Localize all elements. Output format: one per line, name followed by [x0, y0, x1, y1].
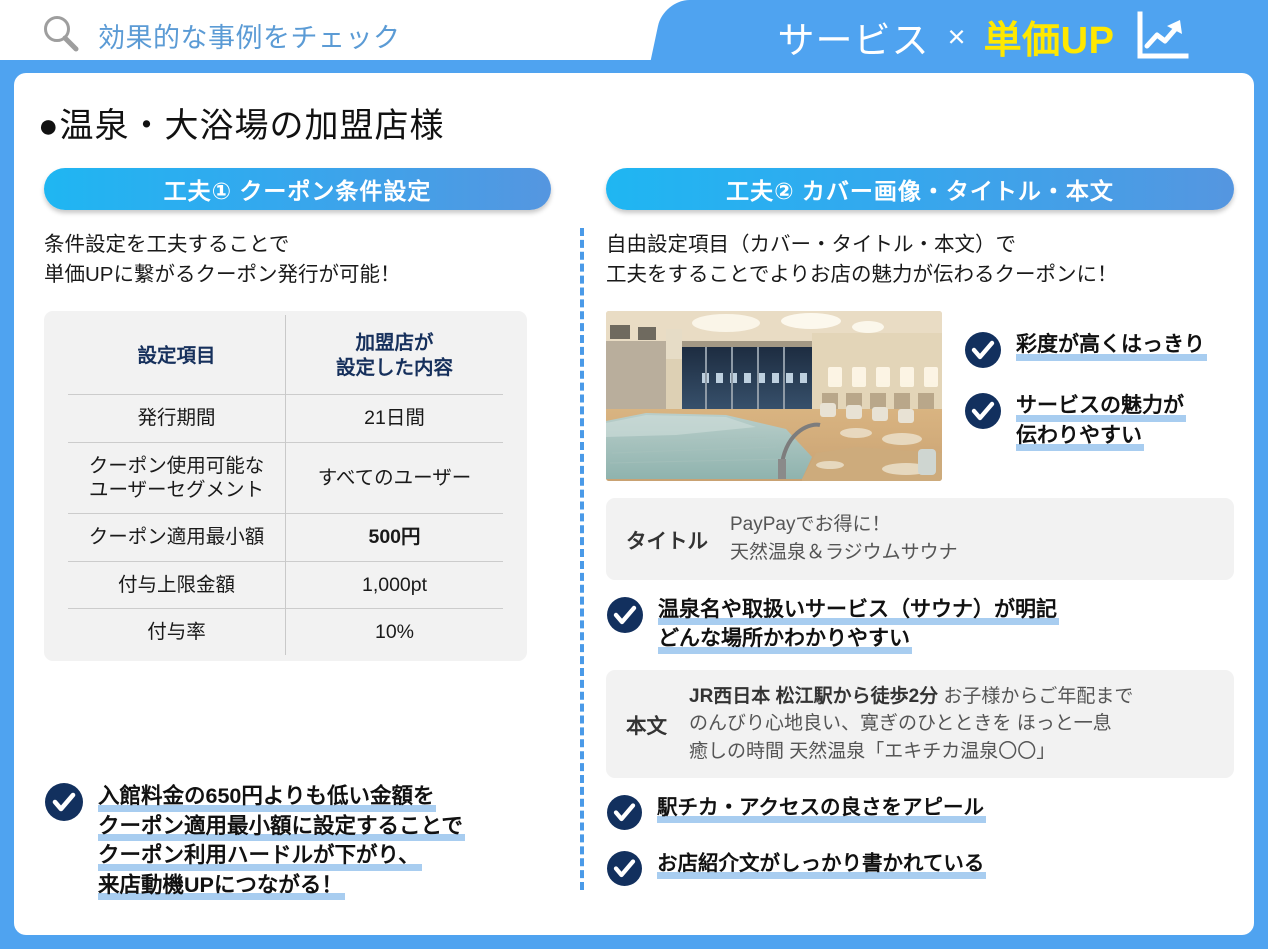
- left-takeaway-bullet: 入館料金の650円よりも低い金額を クーポン適用最小額に設定することで クーポン…: [44, 782, 564, 900]
- check-circle-icon: [964, 392, 1002, 435]
- table-row: クーポン適用最小額 500円: [68, 514, 503, 561]
- table-row: 付与率 10%: [68, 609, 503, 656]
- table-cell-item: 付与率: [68, 609, 286, 656]
- table-cell-value: 500円: [286, 514, 504, 561]
- title-field-card: タイトル PayPayでお得に！ 天然温泉＆ラジウムサウナ: [606, 498, 1234, 579]
- title-field-label: タイトル: [626, 524, 708, 554]
- title-field-value: PayPayでお得に！ 天然温泉＆ラジウムサウナ: [730, 511, 958, 566]
- bottom-bullet-2: お店紹介文がしっかり書かれている: [606, 850, 1234, 892]
- body-field-value: JR西日本 松江駅から徒歩2分 お子様からご年配まで のんびり心地良い、寛ぎのひ…: [689, 683, 1133, 766]
- search-heading-label: 効果的な事例をチェック: [98, 16, 401, 55]
- table-header-item: 設定項目: [68, 315, 286, 394]
- line-chart-up-icon: [1132, 10, 1190, 64]
- photo-bullet-1: 彩度が高くはっきり: [964, 331, 1207, 374]
- banner-text-unitprice-up: 単価UP: [984, 9, 1115, 64]
- right-lead-text: 自由設定項目（カバー・タイトル・本文）で 工夫をすることでよりお店の魅力が伝わる…: [606, 230, 1234, 289]
- cover-photo: [606, 311, 942, 481]
- table-cell-item: クーポン適用最小額: [68, 514, 286, 561]
- bullet-line: 駅チカ・アクセスの良さをアピール: [657, 794, 986, 823]
- bullet-line: 来店動機UPにつながる！: [98, 871, 345, 901]
- page-title: ●温泉・大浴場の加盟店様: [38, 98, 445, 147]
- photo-bullet-list: 彩度が高くはっきり サービスの魅力が 伝わりやすい: [964, 311, 1207, 450]
- banner-multiply-symbol: ×: [948, 19, 966, 55]
- section-header-1: 工夫① クーポン条件設定: [44, 168, 551, 210]
- bottom-bullet-1: 駅チカ・アクセスの良さをアピール: [606, 794, 1234, 836]
- check-circle-icon: [606, 794, 643, 836]
- left-takeaway-lines: 入館料金の650円よりも低い金額を クーポン適用最小額に設定することで クーポン…: [98, 782, 465, 900]
- body-field-value-bold: JR西日本 松江駅から徒歩2分: [689, 686, 938, 707]
- check-circle-icon: [606, 850, 643, 892]
- right-column: 工夫② カバー画像・タイトル・本文 自由設定項目（カバー・タイトル・本文）で 工…: [606, 168, 1234, 892]
- photo-bullet-2-lines: サービスの魅力が 伝わりやすい: [1016, 392, 1186, 450]
- bullet-line: お店紹介文がしっかり書かれている: [657, 850, 986, 879]
- photo-bullet-2: サービスの魅力が 伝わりやすい: [964, 392, 1207, 450]
- bullet-line: 温泉名や取扱いサービス（サウナ）が明記: [658, 596, 1059, 625]
- section-header-2: 工夫② カバー画像・タイトル・本文: [606, 168, 1234, 210]
- table-row: 付与上限金額 1,000pt: [68, 561, 503, 608]
- title-bullet-lines: 温泉名や取扱いサービス（サウナ）が明記 どんな場所かわかりやすい: [658, 596, 1059, 654]
- bullet-line: クーポン利用ハードルが下がり、: [98, 841, 422, 871]
- column-divider: [580, 228, 584, 890]
- table-cell-value: 10%: [286, 609, 504, 656]
- bullet-line: サービスの魅力が: [1016, 392, 1186, 421]
- table-row: クーポン使用可能な ユーザーセグメント すべてのユーザー: [68, 442, 503, 514]
- table-cell-item: クーポン使用可能な ユーザーセグメント: [68, 442, 286, 514]
- photo-bullet-1-lines: 彩度が高くはっきり: [1016, 331, 1207, 360]
- table-row: 発行期間 21日間: [68, 395, 503, 442]
- left-column: 工夫① クーポン条件設定 条件設定を工夫することで 単価UPに繋がるクーポン発行…: [44, 168, 554, 661]
- bullet-line: クーポン適用最小額に設定することで: [98, 812, 465, 842]
- table-header-row: 設定項目 加盟店が 設定した内容: [68, 315, 503, 394]
- title-bullet: 温泉名や取扱いサービス（サウナ）が明記 どんな場所かわかりやすい: [606, 596, 1234, 654]
- banner-text-service: サービス: [778, 10, 930, 64]
- table-cell-item: 付与上限金額: [68, 561, 286, 608]
- coupon-settings-table: 設定項目 加盟店が 設定した内容 発行期間 21日間 クーポン使用可能な ユーザ…: [68, 315, 503, 655]
- table-cell-value: 21日間: [286, 395, 504, 442]
- bullet-line: 入館料金の650円よりも低い金額を: [98, 782, 436, 812]
- body-field-card: 本文 JR西日本 松江駅から徒歩2分 お子様からご年配まで のんびり心地良い、寛…: [606, 670, 1234, 779]
- bottom-bullet-1-lines: 駅チカ・アクセスの良さをアピール: [657, 794, 986, 823]
- bullet-line: 伝わりやすい: [1016, 422, 1144, 451]
- check-circle-icon: [964, 331, 1002, 374]
- check-circle-icon: [606, 596, 644, 639]
- bullet-line: 彩度が高くはっきり: [1016, 331, 1207, 360]
- left-lead-text: 条件設定を工夫することで 単価UPに繋がるクーポン発行が可能！: [44, 230, 554, 289]
- table-cell-value: すべてのユーザー: [286, 442, 504, 514]
- search-heading: 効果的な事例をチェック: [38, 12, 401, 58]
- search-magnifier-icon: [38, 12, 84, 58]
- cover-photo-row: 彩度が高くはっきり サービスの魅力が 伝わりやすい: [606, 311, 1234, 481]
- table-cell-value: 1,000pt: [286, 561, 504, 608]
- table-cell-item: 発行期間: [68, 395, 286, 442]
- slide-root: 効果的な事例をチェック サービス × 単価UP ●温泉・大浴場の加盟店様 工夫①…: [0, 0, 1268, 949]
- body-field-label: 本文: [626, 709, 667, 739]
- check-circle-icon: [44, 782, 84, 827]
- coupon-settings-table-wrapper: 設定項目 加盟店が 設定した内容 発行期間 21日間 クーポン使用可能な ユーザ…: [44, 311, 527, 661]
- table-header-value: 加盟店が 設定した内容: [286, 315, 504, 394]
- bullet-line: どんな場所かわかりやすい: [658, 625, 912, 654]
- bottom-bullet-2-lines: お店紹介文がしっかり書かれている: [657, 850, 986, 879]
